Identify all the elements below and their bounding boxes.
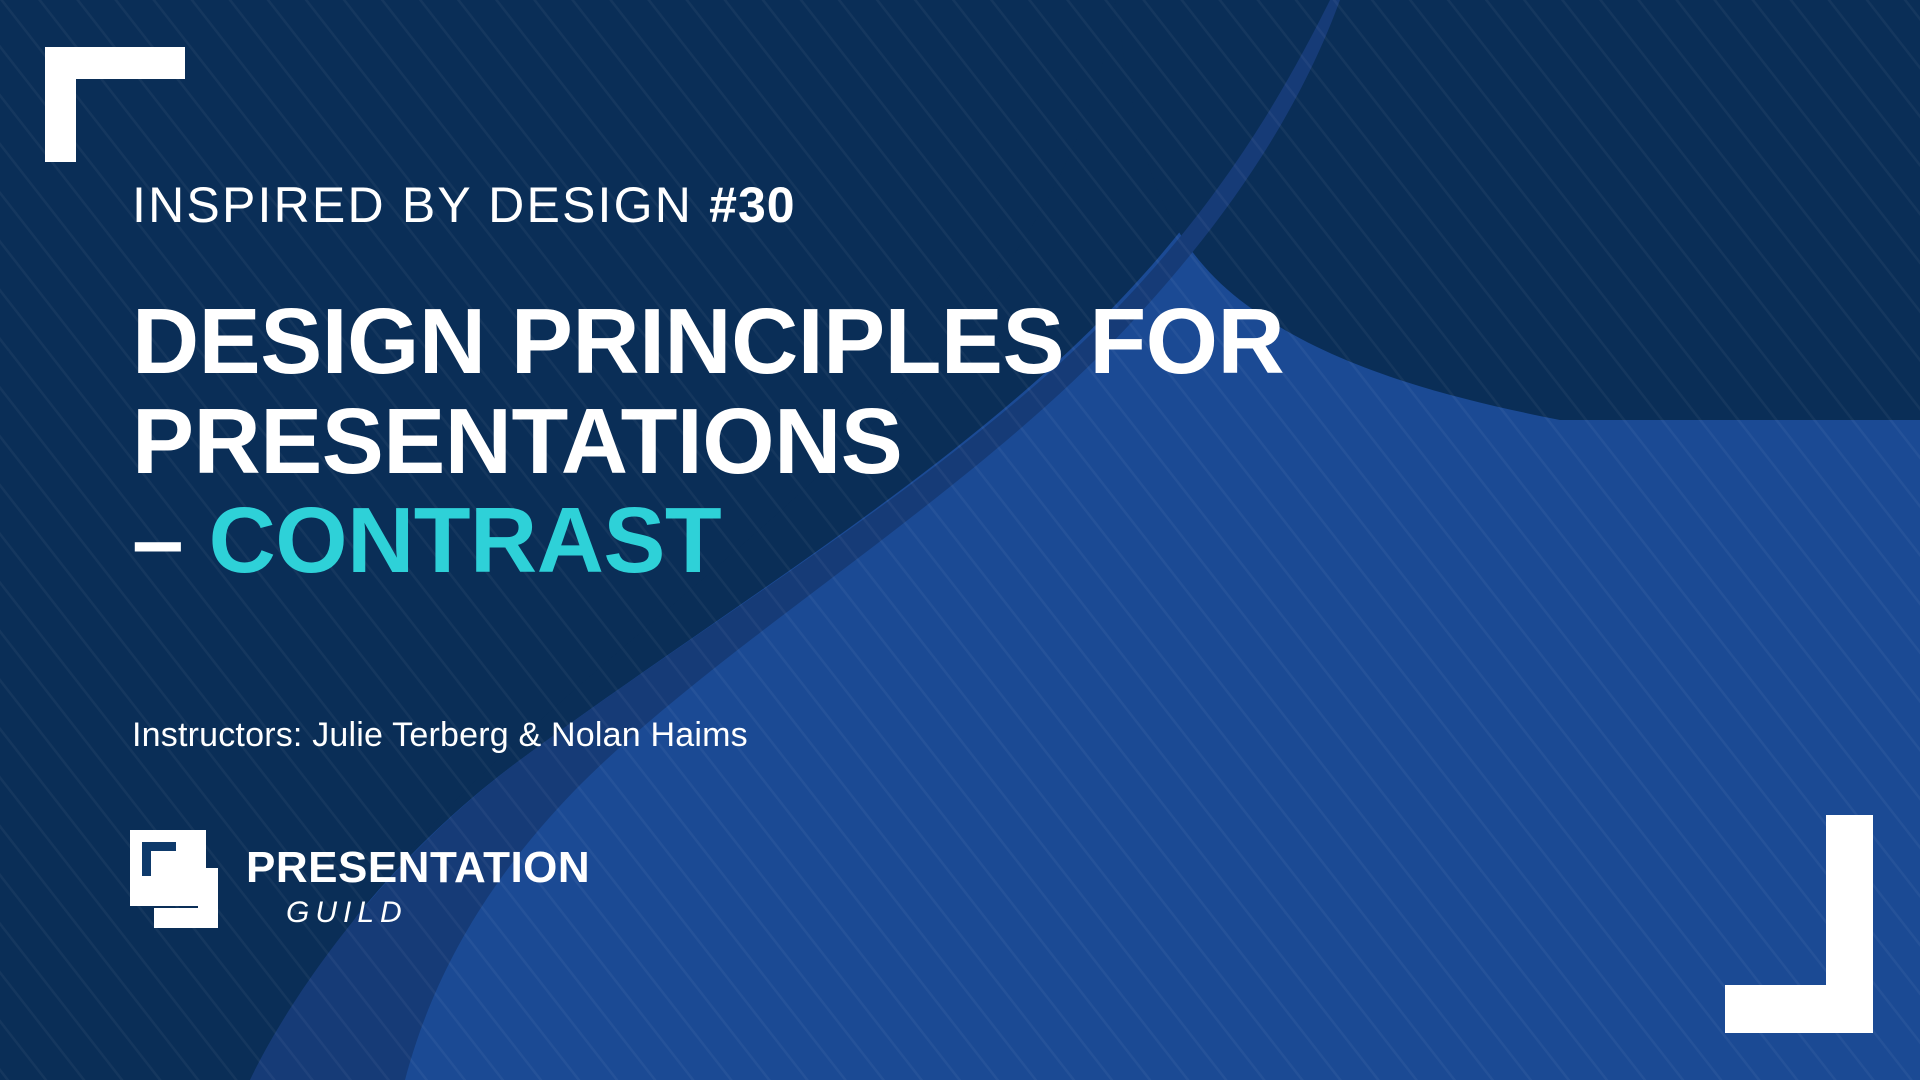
presentation-slide: INSPIRED BY DESIGN #30 DESIGN PRINCIPLES… — [0, 0, 1920, 1080]
title-dash: – — [132, 488, 183, 592]
logo-name-line-1: PRESENTATION — [246, 846, 590, 890]
logo-name-line-2: GUILD — [286, 898, 590, 928]
slide-content: INSPIRED BY DESIGN #30 DESIGN PRINCIPLES… — [0, 0, 1200, 1080]
title-line-1: DESIGN PRINCIPLES FOR — [132, 292, 1392, 392]
instructors-line: Instructors: Julie Terberg & Nolan Haims — [132, 716, 748, 755]
title-line-3: – CONTRAST — [132, 491, 1392, 591]
title-line-2: PRESENTATIONS — [132, 392, 1392, 492]
page-title: DESIGN PRINCIPLES FOR PRESENTATIONS – CO… — [132, 292, 1392, 591]
eyebrow-series-label: INSPIRED BY DESIGN — [132, 177, 693, 233]
title-accent-word: CONTRAST — [209, 488, 722, 592]
slide-eyebrow: INSPIRED BY DESIGN #30 — [132, 180, 796, 230]
eyebrow-episode-number: #30 — [709, 177, 795, 233]
presentation-guild-logo: PRESENTATION GUILD — [130, 828, 590, 928]
logo-wordmark: PRESENTATION GUILD — [246, 828, 590, 928]
corner-bracket-bottom-right-icon — [1725, 815, 1873, 1033]
nested-squares-icon — [130, 830, 228, 928]
